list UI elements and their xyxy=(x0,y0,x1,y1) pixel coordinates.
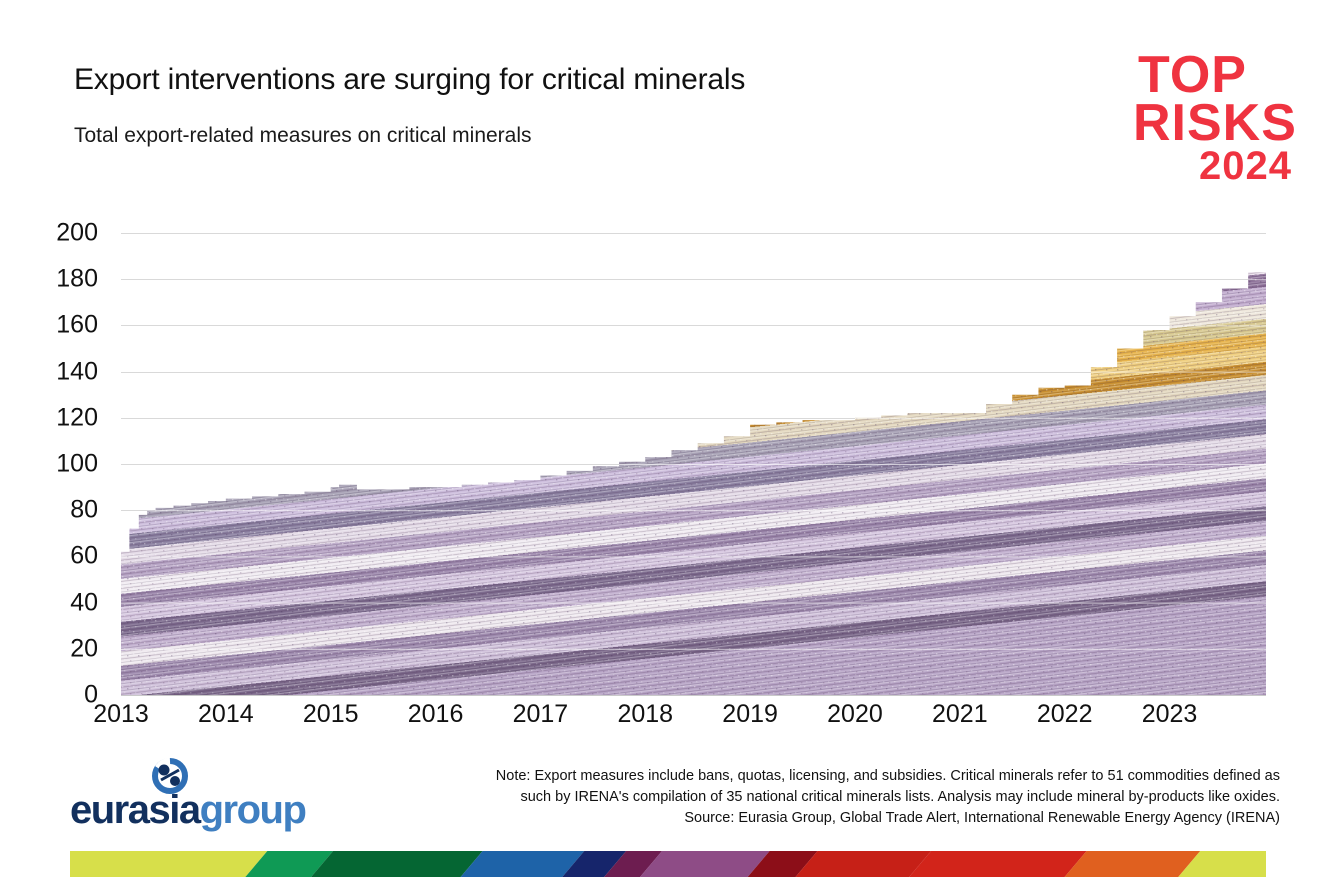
x-axis-tick-label: 2019 xyxy=(722,700,778,729)
top-risks-line1: TOP xyxy=(1138,52,1298,100)
y-axis-tick-label: 80 xyxy=(70,496,98,525)
logo-text-eurasia: eurasia xyxy=(70,788,200,832)
footnote: Note: Export measures include bans, quot… xyxy=(350,766,1280,829)
x-axis-tick-label: 2022 xyxy=(1037,700,1093,729)
y-axis-tick-label: 40 xyxy=(70,588,98,617)
x-axis-tick-label: 2020 xyxy=(827,700,883,729)
y-axis-tick-label: 20 xyxy=(70,634,98,663)
top-risks-year: 2024 xyxy=(1138,148,1298,185)
page-subtitle: Total export-related measures on critica… xyxy=(74,124,532,148)
brand-color-bar xyxy=(70,851,1266,877)
y-axis-tick-label: 100 xyxy=(56,450,98,479)
colorbar-segment xyxy=(909,851,1086,877)
y-axis-tick-label: 60 xyxy=(70,542,98,571)
x-axis: 2013201420152016201720182019202020212022… xyxy=(121,700,1266,740)
footnote-line-3: Source: Eurasia Group, Global Trade Aler… xyxy=(350,808,1280,829)
page-title: Export interventions are surging for cri… xyxy=(74,63,745,97)
eurasia-group-logo: eurasiagroup xyxy=(70,758,300,834)
x-axis-tick-label: 2014 xyxy=(198,700,254,729)
eurasia-group-wordmark: eurasiagroup xyxy=(70,788,305,833)
y-axis-tick-label: 200 xyxy=(56,219,98,248)
colorbar-segment xyxy=(796,851,932,877)
x-axis-tick-label: 2017 xyxy=(513,700,569,729)
colorbar-segment xyxy=(640,851,770,877)
x-axis-tick-label: 2015 xyxy=(303,700,359,729)
y-axis: 020406080100120140160180200 xyxy=(0,233,112,695)
top-risks-logo: TOP RISKS 2024 xyxy=(1138,52,1298,197)
x-axis-baseline xyxy=(121,695,1266,696)
plot-area xyxy=(121,233,1266,695)
colorbar-segment xyxy=(1065,851,1201,877)
y-axis-tick-label: 140 xyxy=(56,357,98,386)
colorbar-segment xyxy=(311,851,483,877)
area-series-path xyxy=(121,233,1266,695)
x-axis-tick-label: 2018 xyxy=(617,700,673,729)
x-axis-tick-label: 2016 xyxy=(408,700,464,729)
top-risks-line2: RISKS xyxy=(1133,100,1298,148)
y-axis-tick-label: 180 xyxy=(56,265,98,294)
y-axis-tick-label: 120 xyxy=(56,403,98,432)
x-axis-tick-label: 2021 xyxy=(932,700,988,729)
infographic-page: Export interventions are surging for cri… xyxy=(0,0,1334,882)
x-axis-tick-label: 2013 xyxy=(93,700,149,729)
y-axis-tick-label: 160 xyxy=(56,311,98,340)
x-axis-tick-label: 2023 xyxy=(1142,700,1198,729)
footnote-line-1: Note: Export measures include bans, quot… xyxy=(350,766,1280,787)
logo-text-group: group xyxy=(200,788,306,832)
colorbar-segment xyxy=(70,851,267,877)
area-chart-plot xyxy=(121,233,1266,695)
footnote-line-2: such by IRENA's compilation of 35 nation… xyxy=(350,787,1280,808)
